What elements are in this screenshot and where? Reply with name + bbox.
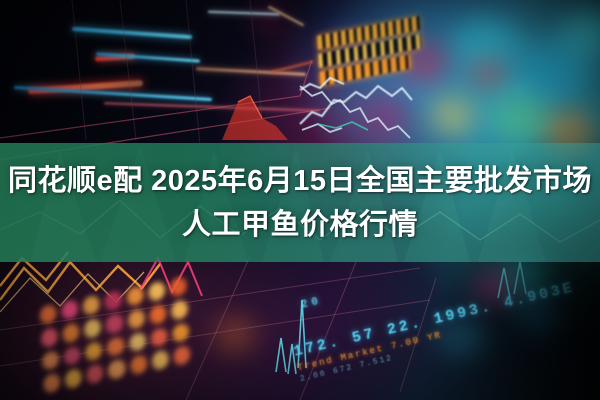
matrix-dot [86, 363, 104, 385]
matrix-dot [172, 322, 190, 344]
matrix-dot [106, 313, 124, 335]
trend-polyline-white [300, 78, 412, 124]
matrix-dot [42, 350, 60, 372]
matrix-dot [41, 327, 59, 349]
matrix-dot [39, 304, 57, 326]
matrix-dot [108, 359, 126, 381]
matrix-dot [173, 345, 191, 367]
matrix-dot [150, 327, 168, 349]
matrix-dot [149, 304, 167, 326]
title-line-2: 人工甲鱼价格行情 [182, 203, 418, 247]
matrix-dot [65, 368, 83, 390]
matrix-dot [171, 299, 189, 321]
matrix-dot [43, 373, 61, 395]
matrix-dot [104, 290, 122, 312]
matrix-dot [107, 336, 125, 358]
matrix-dot [169, 276, 187, 298]
matrix-dot [130, 354, 148, 376]
matrix-dot [62, 322, 80, 344]
title-line-1: 同花顺e配 2025年6月15日全国主要批发市场 [8, 159, 592, 203]
matrix-dot [63, 345, 81, 367]
matrix-dot [61, 299, 79, 321]
matrix-dot [84, 317, 102, 339]
matrix-dot [126, 285, 144, 307]
matrix-dot [148, 281, 166, 303]
page-title: 同花顺e配 2025年6月15日全国主要批发市场 人工甲鱼价格行情 [0, 143, 600, 262]
matrix-dot [85, 340, 103, 362]
matrix-dot [127, 308, 145, 330]
matrix-dot [83, 294, 101, 316]
matrix-dot [128, 331, 146, 353]
matrix-dot [151, 350, 169, 372]
banner-image: 20 172. 57 22. 1993. 4.903E Trend Market… [0, 0, 600, 400]
